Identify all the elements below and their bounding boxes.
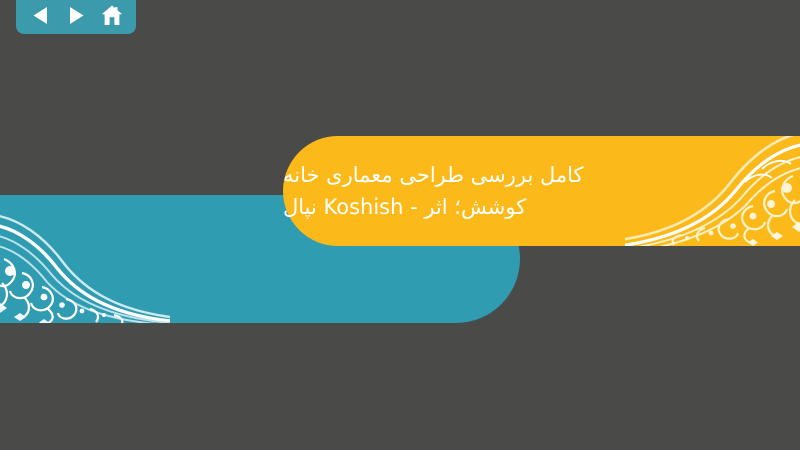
house-glyph [101,5,123,26]
back-icon[interactable] [27,2,53,28]
title-line-1: کامل بررسی طراحی معماری خانه [283,159,584,191]
home-icon[interactable] [99,2,125,28]
title-line-2: کوشش؛ اثر - Koshish نپال [283,191,526,223]
slide-title: کامل بررسی طراحی معماری خانه کوشش؛ اثر -… [283,136,800,246]
back-triangle-glyph [32,6,49,25]
forward-icon[interactable] [63,2,89,28]
slide-canvas: کامل بررسی طراحی معماری خانه کوشش؛ اثر -… [0,0,800,450]
forward-triangle-glyph [68,6,85,25]
navigation-bar [16,0,136,34]
arabesque-corner-ornament-teal [0,213,170,323]
